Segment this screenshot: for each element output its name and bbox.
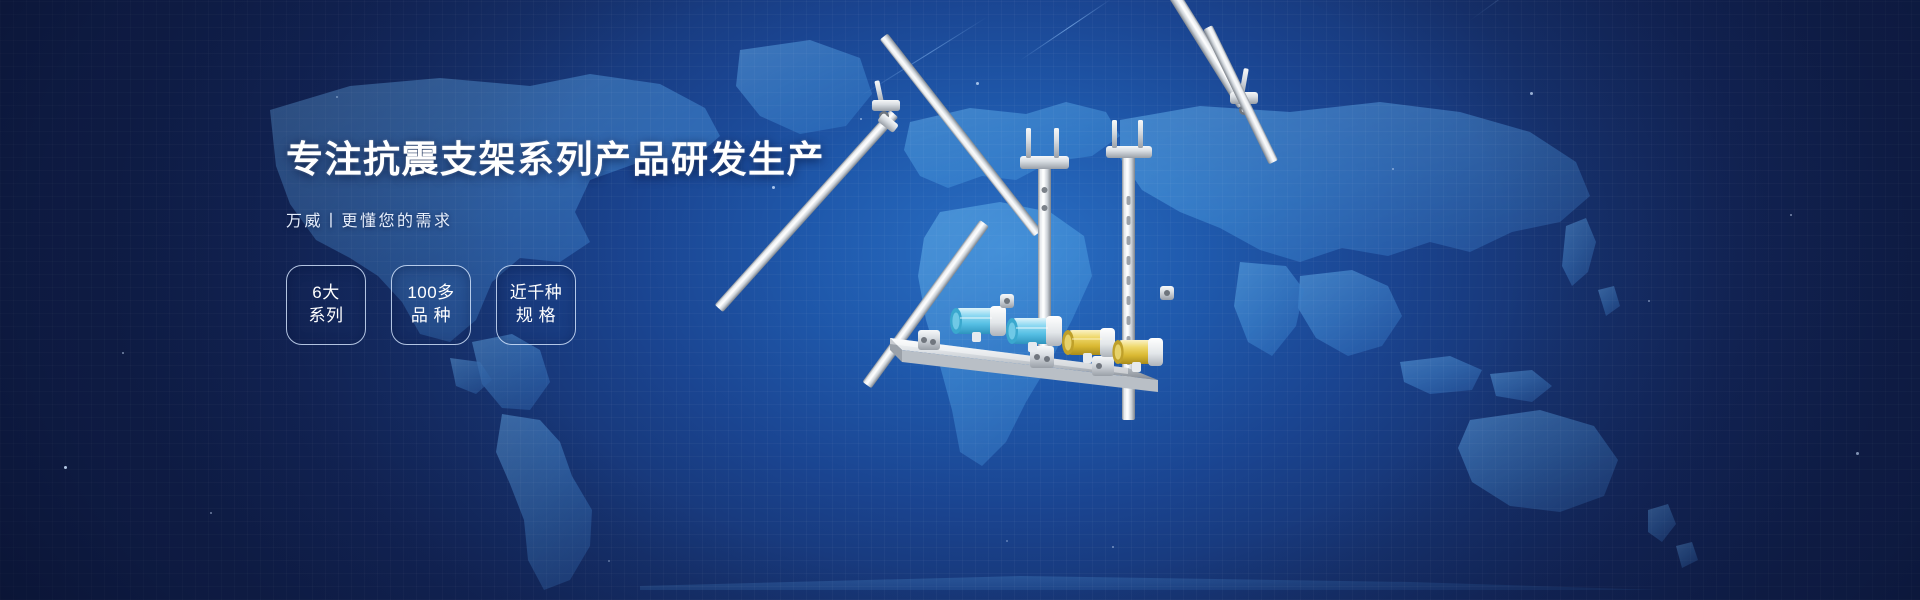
badge-line-2: 品 种: [411, 305, 451, 327]
banner-subtitle: 万威丨更懂您的需求: [286, 207, 806, 231]
banner-copy: 专注抗震支架系列产品研发生产 万威丨更懂您的需求 6大 系列 100多 品 种 …: [286, 140, 806, 345]
hero-banner: 专注抗震支架系列产品研发生产 万威丨更懂您的需求 6大 系列 100多 品 种 …: [0, 0, 1920, 600]
badge-line-1: 近千种: [510, 282, 563, 304]
feature-badge-list: 6大 系列 100多 品 种 近千种 规 格: [286, 265, 806, 345]
feature-badge-varieties: 100多 品 种: [391, 265, 471, 345]
badge-line-2: 系列: [309, 305, 344, 327]
badge-line-1: 6大: [312, 282, 339, 304]
page-title: 专注抗震支架系列产品研发生产: [286, 140, 806, 181]
product-image: [860, 50, 1320, 410]
badge-line-2: 规 格: [516, 305, 556, 327]
badge-line-1: 100多: [407, 282, 454, 304]
feature-badge-specs: 近千种 规 格: [496, 265, 576, 345]
feature-badge-series: 6大 系列: [286, 265, 366, 345]
